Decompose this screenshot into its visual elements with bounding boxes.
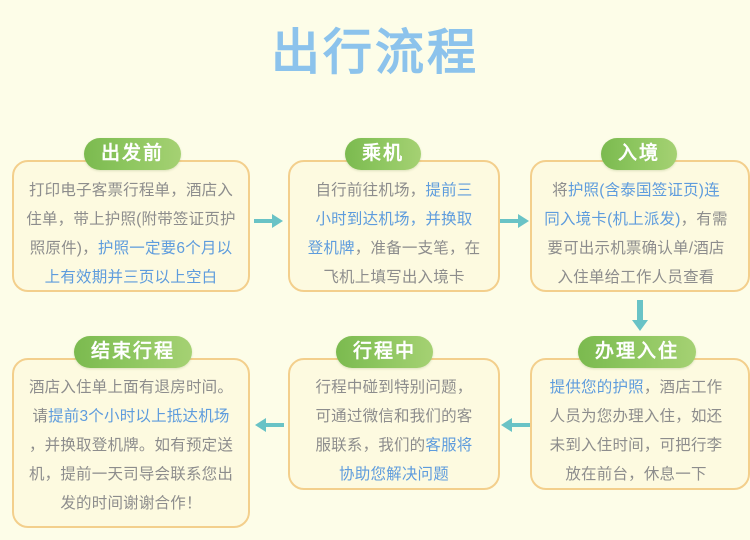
- step-body-during-trip: 行程中碰到特别问题， 可通过微信和我们的客 服联系，我们的客服将 协助您解决问题: [296, 373, 492, 489]
- body-line: 上有效期并三页以上空白: [22, 263, 240, 292]
- body-line: 要可出示机票确认单/酒店: [530, 234, 742, 263]
- body-line: 未到入住时间，可把行李: [530, 431, 742, 460]
- step-badge-end-trip: 结束行程: [74, 336, 192, 368]
- body-line: 打印电子客票行程单，酒店入: [22, 176, 240, 205]
- body-line: 登机牌，准备一支笔，在: [296, 234, 492, 263]
- body-line: 发的时间谢谢合作！: [12, 489, 250, 518]
- body-line: 照原件)，护照一定要6个月以: [22, 234, 240, 263]
- arrow-left-checkin-to-during: [500, 416, 530, 434]
- body-line: 协助您解决问题: [296, 460, 492, 489]
- step-body-check-in: 提供您的护照，酒店工作 人员为您办理入住，如还 未到入住时间，可把行李 放在前台…: [530, 373, 742, 489]
- body-line: 小时到达机场，并换取: [296, 205, 492, 234]
- body-line: 人员为您办理入住，如还: [530, 402, 742, 431]
- step-badge-departure: 出发前: [84, 138, 181, 170]
- body-line: 机，提前一天司导会联系您出: [12, 460, 250, 489]
- body-line: 请提前3个小时以上抵达机场: [12, 402, 250, 431]
- body-line: 入住单给工作人员查看: [530, 263, 742, 292]
- body-line: 将护照(含泰国签证页)连: [530, 176, 742, 205]
- flowchart-page: 出行流程 出发前 打印电子客票行程单，酒店入 住单，带上护照(附带签证页护 照原…: [0, 0, 750, 540]
- step-badge-immigration: 入境: [601, 138, 677, 170]
- arrow-left-during-to-end: [254, 416, 284, 434]
- step-badge-boarding: 乘机: [345, 138, 421, 170]
- body-line: 同入境卡(机上派发)，有需: [530, 205, 742, 234]
- body-line: 住单，带上护照(附带签证页护: [22, 205, 240, 234]
- step-badge-check-in: 办理入住: [578, 336, 696, 368]
- body-line: 行程中碰到特别问题，: [296, 373, 492, 402]
- page-title: 出行流程: [0, 22, 750, 84]
- step-body-departure: 打印电子客票行程单，酒店入 住单，带上护照(附带签证页护 照原件)，护照一定要6…: [22, 176, 240, 292]
- step-body-boarding: 自行前往机场，提前三 小时到达机场，并换取 登机牌，准备一支笔，在 飞机上填写出…: [296, 176, 492, 292]
- arrow-down-immigration-to-checkin: [631, 300, 649, 332]
- arrow-right-departure-to-boarding: [254, 212, 284, 230]
- step-body-immigration: 将护照(含泰国签证页)连 同入境卡(机上派发)，有需 要可出示机票确认单/酒店 …: [530, 176, 742, 292]
- body-line: 飞机上填写出入境卡: [296, 263, 492, 292]
- body-line: 可通过微信和我们的客: [296, 402, 492, 431]
- body-line: 放在前台，休息一下: [530, 460, 742, 489]
- body-line: ，并换取登机牌。如有预定送: [12, 431, 250, 460]
- body-line: 提供您的护照，酒店工作: [530, 373, 742, 402]
- arrow-right-boarding-to-immigration: [500, 212, 530, 230]
- step-badge-during-trip: 行程中: [336, 336, 433, 368]
- body-line: 服联系，我们的客服将: [296, 431, 492, 460]
- body-line: 自行前往机场，提前三: [296, 176, 492, 205]
- body-line: 酒店入住单上面有退房时间。: [12, 373, 250, 402]
- step-body-end-trip: 酒店入住单上面有退房时间。 请提前3个小时以上抵达机场 ，并换取登机牌。如有预定…: [12, 373, 250, 518]
